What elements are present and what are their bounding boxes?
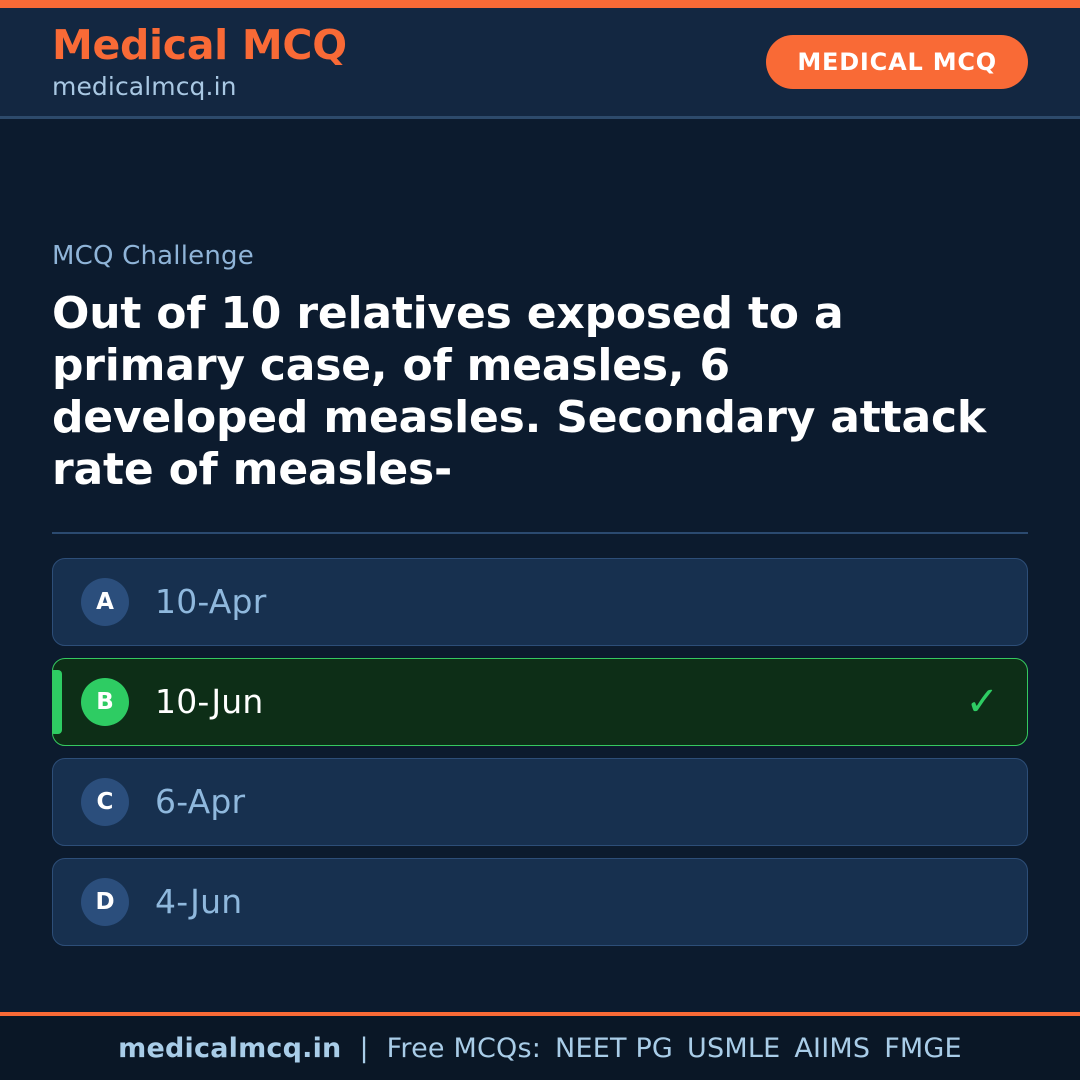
option-text: 6-Apr (155, 782, 245, 821)
footer-exam-aiims[interactable]: AIIMS (780, 1033, 870, 1064)
footer-site[interactable]: medicalmcq.in (118, 1033, 341, 1064)
footer-exam-usmle[interactable]: USMLE (673, 1033, 780, 1064)
options-list: A 10-Apr B 10-Jun ✓ C 6-Apr D 4-Jun (52, 558, 1028, 946)
question-text: Out of 10 relatives exposed to a primary… (52, 288, 992, 496)
check-icon: ✓ (965, 682, 999, 722)
option-d[interactable]: D 4-Jun (52, 858, 1028, 946)
option-text: 4-Jun (155, 882, 242, 921)
option-letter-badge: D (81, 878, 129, 926)
option-letter-badge: C (81, 778, 129, 826)
footer-label: Free MCQs: (387, 1033, 541, 1064)
header: Medical MCQ medicalmcq.in MEDICAL MCQ (0, 8, 1080, 119)
header-badge: MEDICAL MCQ (766, 35, 1028, 89)
mcq-card: Medical MCQ medicalmcq.in MEDICAL MCQ MC… (0, 0, 1080, 1080)
footer-exam-neet-pg[interactable]: NEET PG (541, 1033, 673, 1064)
brand-url: medicalmcq.in (52, 74, 347, 99)
option-a[interactable]: A 10-Apr (52, 558, 1028, 646)
kicker-label: MCQ Challenge (52, 243, 1028, 269)
option-text: 10-Apr (155, 582, 266, 621)
section-divider (52, 532, 1028, 534)
option-b[interactable]: B 10-Jun ✓ (52, 658, 1028, 746)
top-accent-bar (0, 0, 1080, 8)
option-text: 10-Jun (155, 682, 264, 721)
correct-accent-bar (53, 670, 62, 734)
brand: Medical MCQ medicalmcq.in (52, 25, 347, 99)
footer-exams: NEET PGUSMLEAIIMSFMGE (541, 1033, 962, 1064)
footer-separator: | (341, 1033, 386, 1064)
main-content: MCQ Challenge Out of 10 relatives expose… (0, 119, 1080, 1012)
footer-exam-fmge[interactable]: FMGE (870, 1033, 962, 1064)
footer: medicalmcq.in | Free MCQs: NEET PGUSMLEA… (0, 1016, 1080, 1080)
option-c[interactable]: C 6-Apr (52, 758, 1028, 846)
option-letter-badge: B (81, 678, 129, 726)
option-letter-badge: A (81, 578, 129, 626)
brand-title: Medical MCQ (52, 25, 347, 66)
